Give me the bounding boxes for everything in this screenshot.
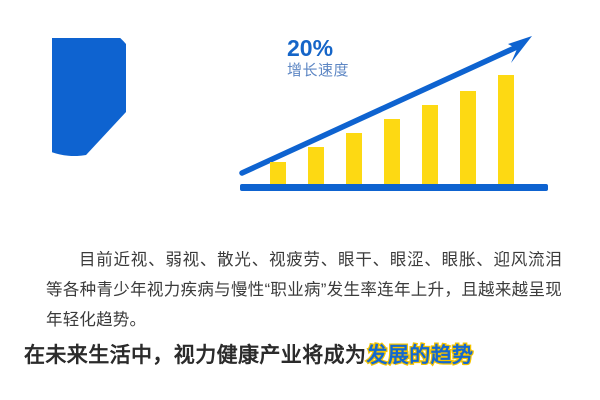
bar-item [346, 133, 362, 185]
bar-item [270, 162, 286, 185]
charts-band: 60% [0, 0, 600, 212]
growth-percent: 20% [287, 36, 407, 62]
growth-callout: 20% 增长速度 [287, 36, 407, 80]
headline: 在未来生活中，视力健康产业将成为发展的趋势 [24, 339, 584, 369]
bar-item [308, 147, 324, 185]
bar-item [422, 105, 438, 185]
bar-item [498, 75, 514, 185]
chart-baseline [240, 184, 548, 191]
bar-item [384, 119, 400, 185]
pie-slice-primary [52, 38, 126, 156]
body-paragraph: 目前近视、弱视、散光、视疲劳、眼干、眼涩、眼胀、迎风流泪等各种青少年视力疾病与慢… [46, 245, 562, 335]
growth-caption: 增长速度 [287, 63, 407, 80]
pie-chart: 60% [52, 38, 200, 186]
headline-lead: 在未来生活中，视力健康产业将成为 [24, 344, 366, 367]
bar-item [460, 91, 476, 185]
bar-series [270, 75, 514, 185]
infographic-canvas: 60% [0, 0, 600, 400]
pie-chart-svg [52, 38, 200, 186]
headline-accent: 发展的趋势 [366, 344, 473, 367]
